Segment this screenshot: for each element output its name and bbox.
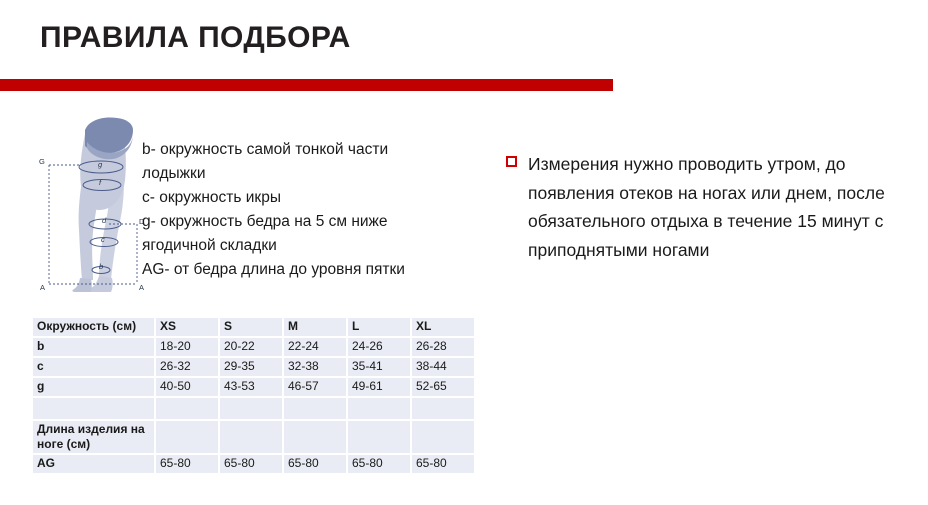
table-row: g 40-50 43-53 46-57 49-61 52-65 [33, 377, 474, 397]
legend-line-c: c- окружность икры [142, 186, 434, 210]
row-label-ag: AG [33, 454, 155, 473]
diagram-label-A-left: A [40, 283, 45, 292]
cell-c-m: 32-38 [283, 357, 347, 377]
cell-b-m: 22-24 [283, 337, 347, 357]
legend-line-g: g- окружность бедра на 5 см ниже ягодичн… [142, 210, 434, 258]
cell-ag-s: 65-80 [219, 454, 283, 473]
spacer-cell-5 [411, 397, 474, 420]
cell-b-xl: 26-28 [411, 337, 474, 357]
cell-b-s: 20-22 [219, 337, 283, 357]
diagram-label-A-right: A [139, 283, 144, 292]
title-accent-rule [0, 79, 613, 91]
cell-c-xl: 38-44 [411, 357, 474, 377]
measurement-advice-text: Измерения нужно проводить утром, до появ… [528, 150, 906, 264]
diagram-label-c: c [101, 235, 105, 244]
section-cell-2 [219, 420, 283, 454]
spacer-cell-3 [283, 397, 347, 420]
cell-b-xs: 18-20 [155, 337, 219, 357]
cell-c-xs: 26-32 [155, 357, 219, 377]
cell-ag-m: 65-80 [283, 454, 347, 473]
legend-line-b: b- окружность самой тонкой части лодыжки [142, 138, 434, 186]
table-row: c 26-32 29-35 32-38 35-41 38-44 [33, 357, 474, 377]
row-label-c: c [33, 357, 155, 377]
section-cell-5 [411, 420, 474, 454]
section-cell-4 [347, 420, 411, 454]
diagram-label-b: b [99, 262, 103, 271]
spacer-cell-1 [155, 397, 219, 420]
spacer-cell-4 [347, 397, 411, 420]
spacer-label [33, 397, 155, 420]
legend-line-ag: AG- от бедра длина до уровня пятки [142, 258, 434, 282]
measurement-legend: b- окружность самой тонкой части лодыжки… [142, 138, 434, 282]
table-header-xs: XS [155, 318, 219, 337]
cell-g-l: 49-61 [347, 377, 411, 397]
measurement-advice-bullet: Измерения нужно проводить утром, до появ… [506, 150, 906, 264]
table-row: b 18-20 20-22 22-24 24-26 26-28 [33, 337, 474, 357]
size-chart-table: Окружность (см) XS S M L XL b 18-20 20-2… [33, 318, 474, 473]
page-title: ПРАВИЛА ПОДБОРА [40, 20, 351, 56]
cell-g-xs: 40-50 [155, 377, 219, 397]
table-section-header-row: Длина изделия на ноге (см) [33, 420, 474, 454]
table-header-row: Окружность (см) XS S M L XL [33, 318, 474, 337]
cell-b-l: 24-26 [347, 337, 411, 357]
spacer-cell-2 [219, 397, 283, 420]
cell-g-m: 46-57 [283, 377, 347, 397]
row-label-b: b [33, 337, 155, 357]
table-header-l: L [347, 318, 411, 337]
row-label-g: g [33, 377, 155, 397]
cell-c-l: 35-41 [347, 357, 411, 377]
square-bullet-icon [506, 156, 517, 167]
cell-g-s: 43-53 [219, 377, 283, 397]
cell-g-xl: 52-65 [411, 377, 474, 397]
section-header-length: Длина изделия на ноге (см) [33, 420, 155, 454]
section-cell-3 [283, 420, 347, 454]
table-header-measure: Окружность (см) [33, 318, 155, 337]
diagram-label-G: G [39, 157, 45, 166]
table-header-m: M [283, 318, 347, 337]
cell-c-s: 29-35 [219, 357, 283, 377]
cell-ag-xl: 65-80 [411, 454, 474, 473]
leg-measurement-diagram: G D A A g f d c b [33, 112, 151, 292]
cell-ag-l: 65-80 [347, 454, 411, 473]
table-row: AG 65-80 65-80 65-80 65-80 65-80 [33, 454, 474, 473]
table-header-s: S [219, 318, 283, 337]
section-cell-1 [155, 420, 219, 454]
table-header-xl: XL [411, 318, 474, 337]
table-spacer-row [33, 397, 474, 420]
cell-ag-xs: 65-80 [155, 454, 219, 473]
